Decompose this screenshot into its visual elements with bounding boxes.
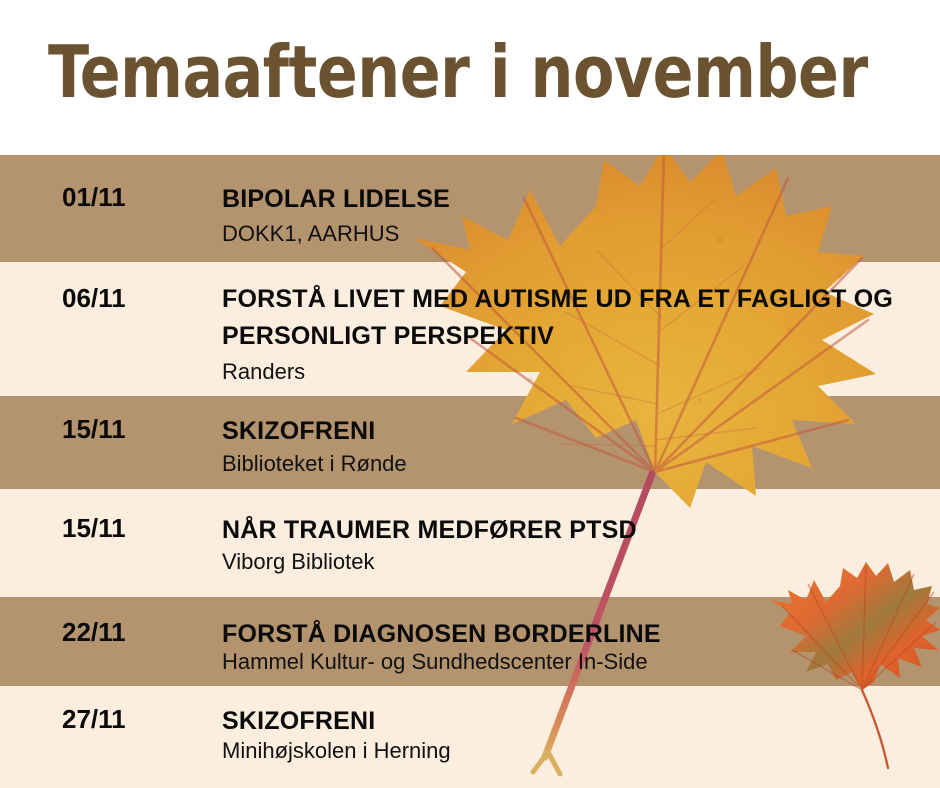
event-title: BIPOLAR LIDELSE [222, 181, 922, 218]
event-date: 27/11 [62, 704, 212, 735]
event-venue: Minihøjskolen i Herning [222, 737, 922, 765]
event-list: 01/11 BIPOLAR LIDELSE DOKK1, AARHUS 06/1… [0, 0, 940, 788]
event-venue: Hammel Kultur- og Sundhedscenter In-Side [222, 648, 922, 676]
event-title: SKIZOFRENI [222, 703, 922, 740]
event-venue: Biblioteket i Rønde [222, 450, 922, 478]
poster: Temaaftener i november 01/11 BIPOLAR LID… [0, 0, 940, 788]
event-venue: DOKK1, AARHUS [222, 220, 922, 248]
event-date: 06/11 [62, 283, 212, 314]
event-venue: Randers [222, 358, 922, 386]
event-date: 01/11 [62, 182, 212, 213]
event-venue: Viborg Bibliotek [222, 548, 922, 576]
event-date: 15/11 [62, 513, 212, 544]
event-title: FORSTÅ LIVET MED AUTISME UD FRA ET FAGLI… [222, 281, 912, 355]
event-title: NÅR TRAUMER MEDFØRER PTSD [222, 512, 922, 549]
event-date: 22/11 [62, 617, 212, 648]
event-date: 15/11 [62, 414, 212, 445]
event-title: SKIZOFRENI [222, 413, 922, 450]
